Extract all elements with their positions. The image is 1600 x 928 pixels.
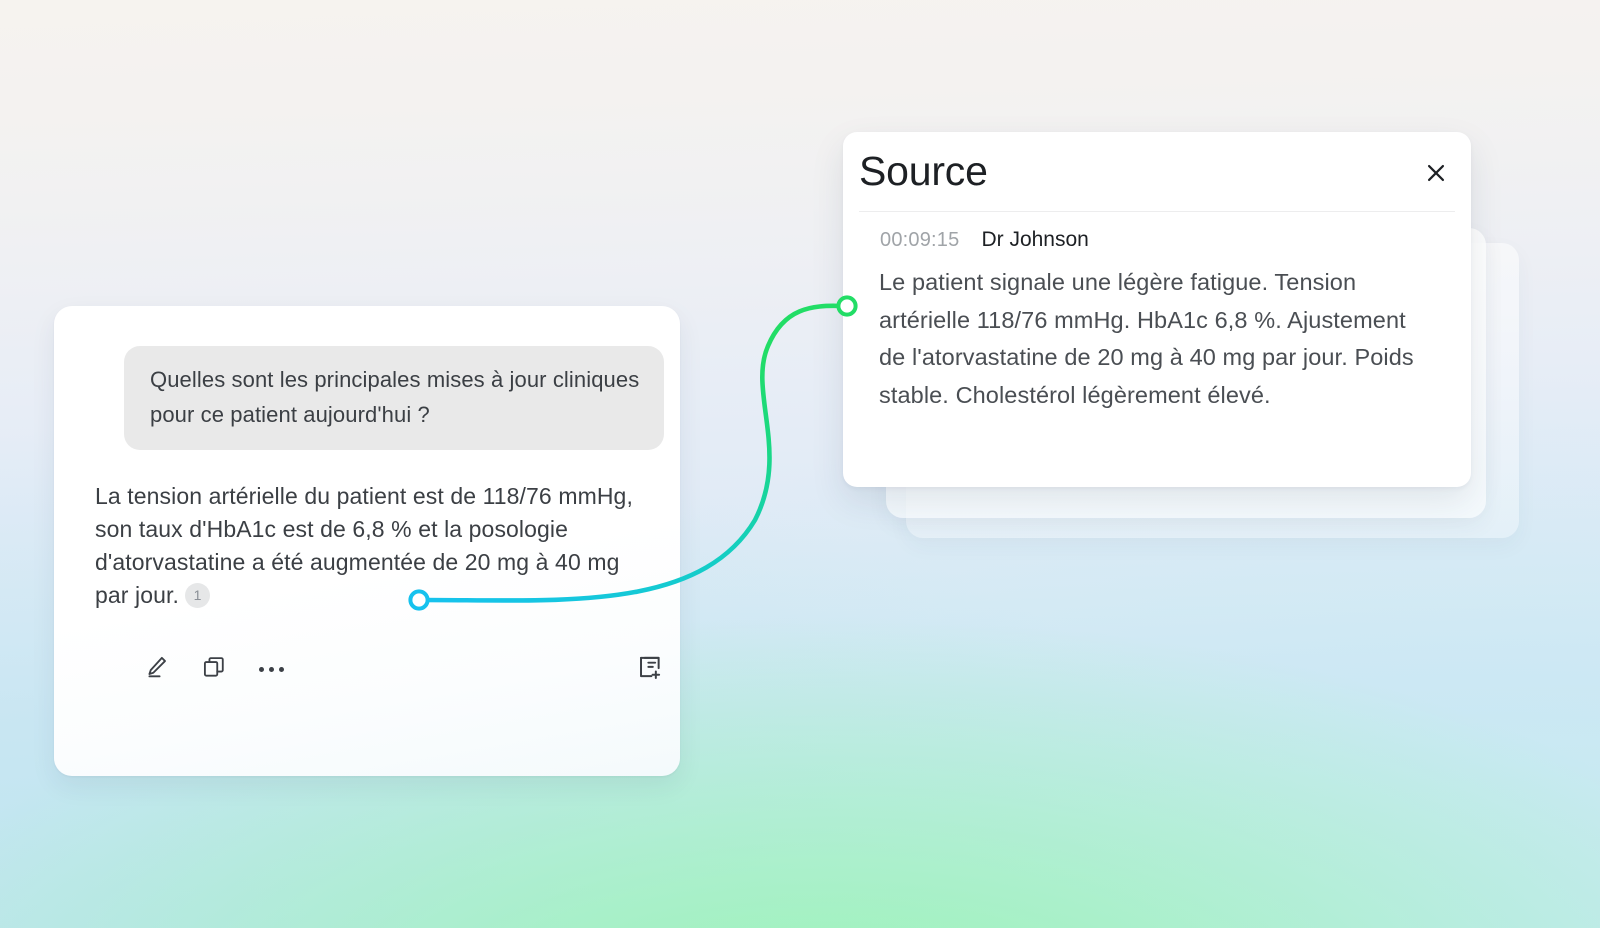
source-panel: Source 00:09:15 Dr Johnson Le patient si… [843, 132, 1471, 487]
copy-icon [201, 654, 227, 685]
source-transcript-text: Le patient signale une légère fatigue. T… [879, 264, 1435, 414]
add-to-note-button[interactable] [630, 649, 670, 689]
assistant-answer: La tension artérielle du patient est de … [95, 480, 651, 612]
source-meta: 00:09:15 Dr Johnson [880, 228, 1089, 252]
more-icon [259, 667, 284, 672]
assistant-answer-text: La tension artérielle du patient est de … [95, 483, 633, 608]
edit-icon [144, 654, 170, 685]
edit-button[interactable] [137, 649, 177, 689]
source-panel-header: Source [843, 132, 1471, 211]
chat-message-card: Quelles sont les principales mises à jou… [54, 306, 680, 776]
message-action-bar [95, 649, 651, 693]
copy-button[interactable] [194, 649, 234, 689]
add-to-note-icon [636, 653, 664, 686]
header-divider [859, 211, 1455, 212]
user-question-bubble: Quelles sont les principales mises à jou… [124, 346, 664, 450]
close-button[interactable] [1419, 158, 1453, 192]
source-panel-title: Source [859, 148, 988, 195]
source-timestamp: 00:09:15 [880, 229, 959, 252]
more-options-button[interactable] [251, 649, 291, 689]
citation-badge-1[interactable]: 1 [185, 583, 210, 608]
source-speaker: Dr Johnson [981, 228, 1088, 252]
close-icon [1423, 160, 1449, 191]
